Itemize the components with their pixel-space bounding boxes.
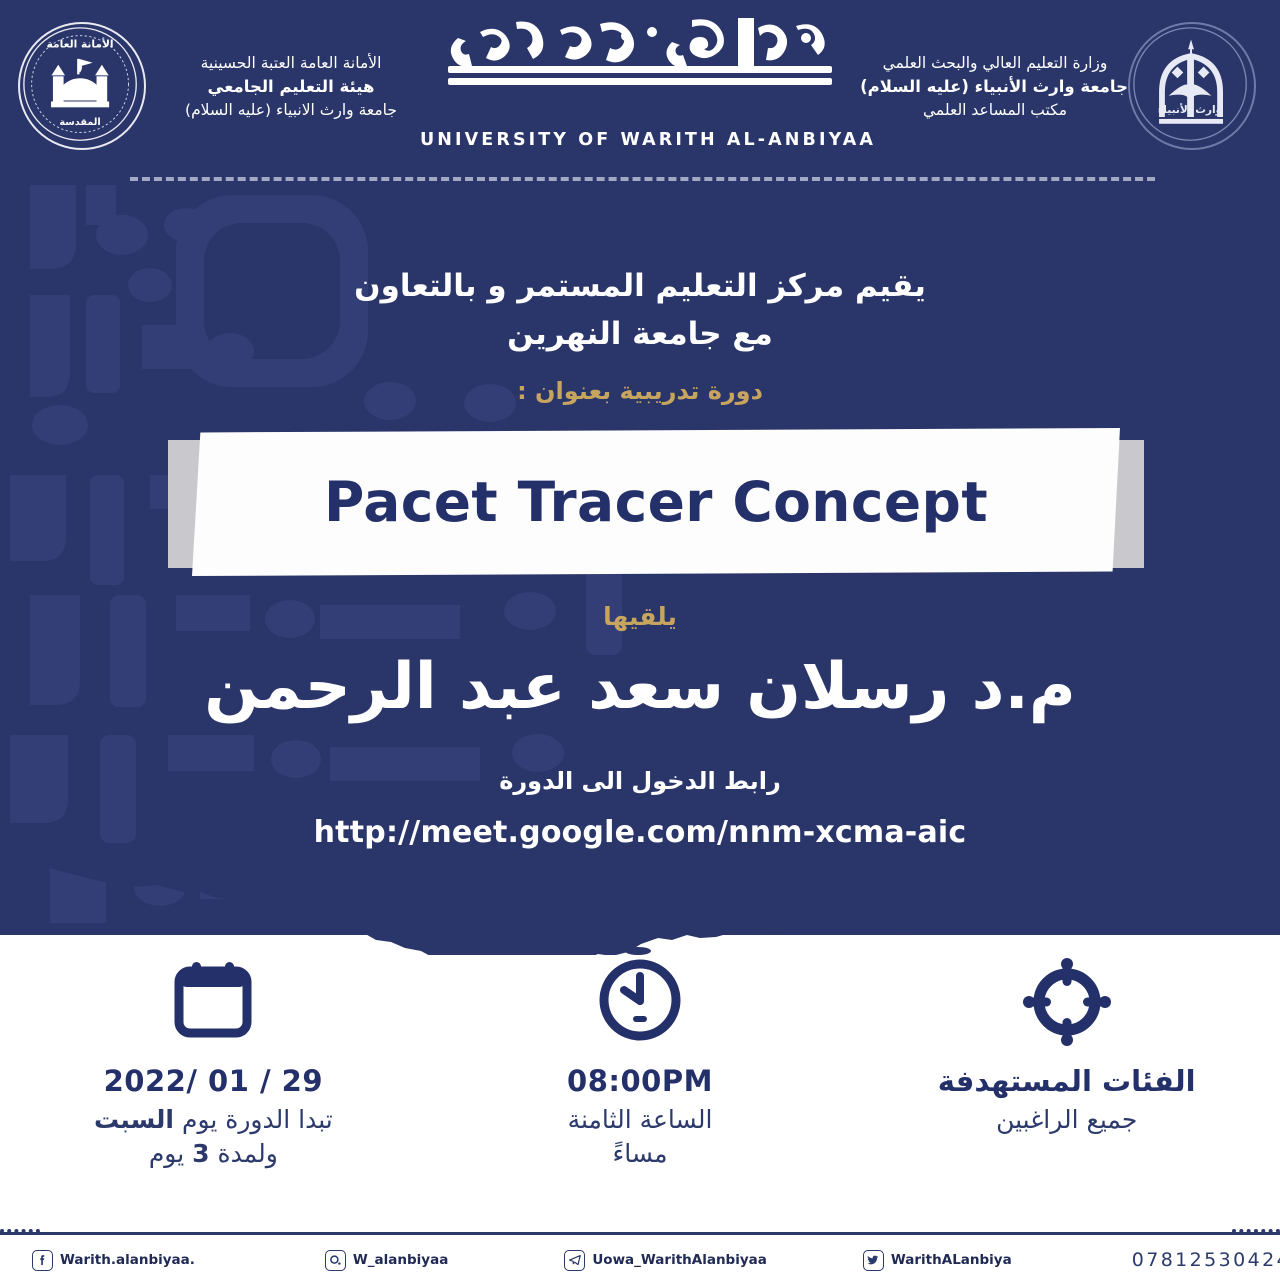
course-title-ribbon: Pacet Tracer Concept [168, 428, 1144, 580]
poster-root: الأمانة العامة المقدسة الأمانة العامة ال… [0, 0, 1280, 1280]
university-wordmark: UNIVERSITY OF WARITH AL-ANBIYAA [420, 14, 860, 164]
time-note: الساعة الثامنة مساءً [568, 1103, 713, 1170]
info-col-date: 2022/ 01 / 29 تبدا الدورة يوم السبت ولمد… [0, 950, 427, 1200]
poster-header: الأمانة العامة المقدسة الأمانة العامة ال… [0, 0, 1280, 172]
date-note-line2: ولمدة 3 يوم [94, 1137, 333, 1171]
shrine-authority-line3: جامعة وارث الانبياء (عليه السلام) [158, 99, 424, 122]
calendar-icon [165, 950, 261, 1054]
ministry-line3: مكتب المساعد العلمي [862, 99, 1128, 122]
torn-paper-edge [0, 855, 1280, 955]
svg-text:وارث الأنبياء: وارث الأنبياء [1158, 103, 1222, 116]
info-col-time: 08:00PM الساعة الثامنة مساءً [427, 950, 854, 1200]
audience-note: جميع الراغبين [996, 1103, 1137, 1137]
svg-text:المقدسة: المقدسة [59, 117, 100, 128]
date-value: 2022/ 01 / 29 [104, 1064, 323, 1098]
target-icon [1017, 950, 1117, 1054]
course-title: Pacet Tracer Concept [324, 470, 988, 534]
ministry-line2: جامعة وارث الأنبياء (عليه السلام) [862, 75, 1128, 99]
audience-value: الفئات المستهدفة [938, 1064, 1196, 1098]
holy-shrine-emblem: الأمانة العامة المقدسة [18, 22, 146, 150]
shrine-authority-line1: الأمانة العامة العتبة الحسينية [158, 52, 424, 75]
info-col-audience: الفئات المستهدفة جميع الراغبين [853, 950, 1280, 1200]
social-telegram[interactable]: Uowa_WarithAlanbiyaa [564, 1250, 767, 1271]
university-wordmark-latin: UNIVERSITY OF WARITH AL-ANBIYAA [420, 130, 860, 150]
speaker-label: يلقيها [240, 602, 1040, 631]
header-divider [130, 177, 1155, 181]
facebook-icon [32, 1250, 53, 1271]
time-note-line1: الساعة الثامنة [568, 1103, 713, 1137]
social-twitter[interactable]: WarithALanbiya [863, 1250, 1012, 1271]
twitter-handle: WarithALanbiya [891, 1252, 1012, 1268]
ministry-line1: وزارة التعليم العالي والبحث العلمي [862, 52, 1128, 75]
twitter-icon [863, 1250, 884, 1271]
social-instagram[interactable]: W_alanbiyaa [325, 1250, 448, 1271]
university-crest-art: وارث الأنبياء [1130, 24, 1254, 148]
intro-text: يقيم مركز التعليم المستمر و بالتعاون مع … [240, 262, 1040, 358]
clock-icon [590, 950, 690, 1054]
blue-panel: الأمانة العامة المقدسة الأمانة العامة ال… [0, 0, 1280, 935]
date-note: تبدا الدورة يوم السبت ولمدة 3 يوم [94, 1103, 333, 1170]
ribbon-body: Pacet Tracer Concept [192, 428, 1120, 576]
telegram-icon [564, 1250, 585, 1271]
university-crest-emblem: وارث الأنبياء [1128, 22, 1256, 150]
info-row: 2022/ 01 / 29 تبدا الدورة يوم السبت ولمد… [0, 950, 1280, 1200]
speaker-name: م.د رسلان سعد عبد الرحمن [140, 650, 1140, 724]
time-note-line2: مساءً [568, 1137, 713, 1171]
date-note-line1: تبدا الدورة يوم السبت [94, 1103, 333, 1137]
instagram-icon [325, 1250, 346, 1271]
audience-note-line1: جميع الراغبين [996, 1103, 1137, 1137]
ministry-block: وزارة التعليم العالي والبحث العلمي جامعة… [862, 52, 1128, 122]
intro-line-2: مع جامعة النهرين [240, 310, 1040, 358]
holy-shrine-emblem-art: الأمانة العامة المقدسة [20, 24, 144, 148]
telegram-handle: Uowa_WarithAlanbiyaa [592, 1252, 767, 1268]
facebook-handle: Warith.alanbiyaa. [60, 1252, 195, 1268]
time-value: 08:00PM [567, 1064, 713, 1098]
shrine-authority-line2: هيئة التعليم الجامعي [158, 75, 424, 99]
footer-bar: Warith.alanbiyaa. W_alanbiyaa Uowa_Warit… [0, 1240, 1280, 1280]
phone-number-1: 07812530424 [1132, 1249, 1280, 1271]
course-subtitle: دورة تدريبية بعنوان : [240, 377, 1040, 405]
footer-dash-right [1232, 1229, 1280, 1233]
footer-dash-left [0, 1229, 40, 1233]
intro-line-1: يقيم مركز التعليم المستمر و بالتعاون [240, 262, 1040, 310]
meeting-link-url[interactable]: http://meet.google.com/nnm-xcma-aic [240, 815, 1040, 850]
university-wordmark-arabic [420, 14, 860, 126]
social-facebook[interactable]: Warith.alanbiyaa. [32, 1250, 195, 1271]
svg-text:الأمانة العامة: الأمانة العامة [47, 37, 114, 50]
shrine-authority-block: الأمانة العامة العتبة الحسينية هيئة التع… [158, 52, 424, 122]
instagram-handle: W_alanbiyaa [353, 1252, 448, 1268]
meeting-link-label: رابط الدخول الى الدورة [240, 767, 1040, 795]
footer-divider [0, 1232, 1280, 1235]
